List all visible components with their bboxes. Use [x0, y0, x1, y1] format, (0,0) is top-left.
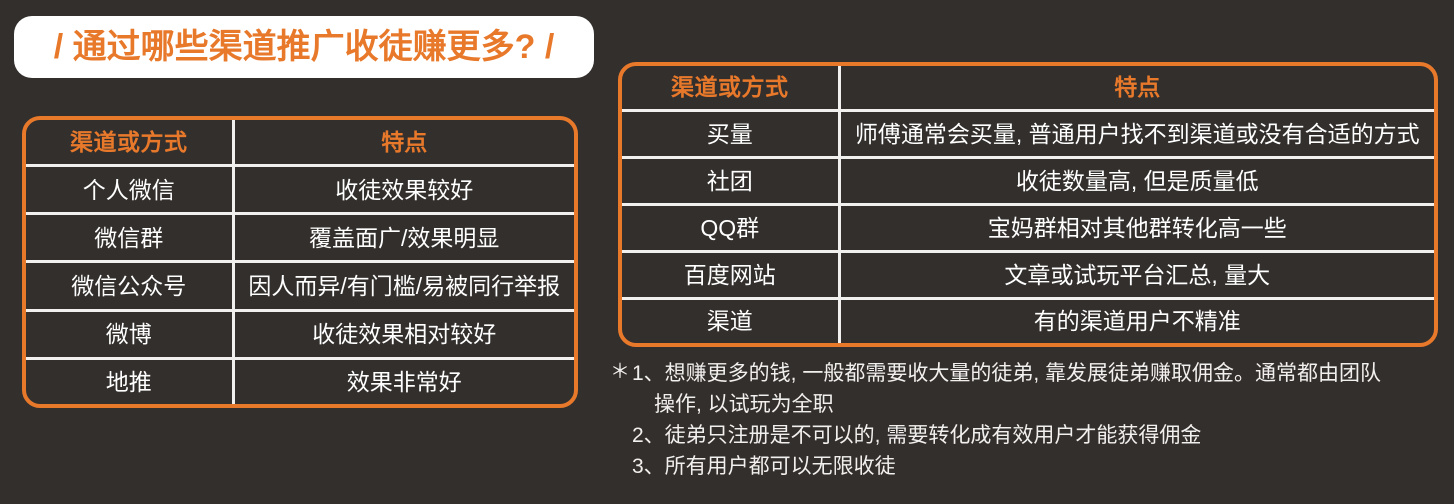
table-row: 微信群 覆盖面广/效果明显	[26, 214, 574, 262]
footnote-item: ＊ 1、想赚更多的钱, 一般都需要收大量的徒弟, 靠发展徒弟赚取佣金。通常都由团…	[610, 358, 1450, 420]
footnote-line: 1、想赚更多的钱, 一般都需要收大量的徒弟, 靠发展徒弟赚取佣金。通常都由团队	[632, 362, 1381, 385]
asterisk-icon: ＊	[610, 358, 632, 388]
table-row: 社团 收徒数量高, 但是质量低	[622, 158, 1434, 205]
table-row: 渠道 有的渠道用户不精准	[622, 298, 1434, 343]
cell-channel: 社团	[622, 158, 839, 205]
cell-feature: 收徒数量高, 但是质量低	[839, 158, 1434, 205]
footnote-text: 2、徒弟只注册是不可以的, 需要转化成有效用户才能获得佣金	[632, 420, 1450, 451]
cell-feature: 因人而异/有门槛/易被同行举报	[233, 262, 574, 310]
table-row: 微博 收徒效果相对较好	[26, 310, 574, 358]
column-header-feature: 特点	[839, 66, 1434, 111]
footnote-item: 3、所有用户都可以无限收徒	[610, 451, 1450, 482]
footnote-item: 2、徒弟只注册是不可以的, 需要转化成有效用户才能获得佣金	[610, 420, 1450, 451]
cell-feature: 收徒效果较好	[233, 166, 574, 214]
left-table-grid: 渠道或方式 特点 个人微信 收徒效果较好 微信群 覆盖面广/效果明显 微信公众号…	[26, 120, 574, 404]
cell-channel: 买量	[622, 111, 839, 158]
cell-feature: 宝妈群相对其他群转化高一些	[839, 204, 1434, 251]
infographic-canvas: / 通过哪些渠道推广收徒赚更多? / 渠道或方式 特点 个人微信 收徒效果较好 …	[0, 0, 1454, 504]
table-row: 买量 师傅通常会买量, 普通用户找不到渠道或没有合适的方式	[622, 111, 1434, 158]
column-header-channel: 渠道或方式	[26, 120, 233, 166]
footnote-line-continued: 操作, 以试玩为全职	[632, 389, 1450, 420]
cell-channel: 微信公众号	[26, 262, 233, 310]
cell-feature: 效果非常好	[233, 358, 574, 404]
cell-feature: 文章或试玩平台汇总, 量大	[839, 251, 1434, 298]
cell-feature: 师傅通常会买量, 普通用户找不到渠道或没有合适的方式	[839, 111, 1434, 158]
cell-channel: QQ群	[622, 204, 839, 251]
table-row: 百度网站 文章或试玩平台汇总, 量大	[622, 251, 1434, 298]
footnote-line: 2、徒弟只注册是不可以的, 需要转化成有效用户才能获得佣金	[632, 424, 1201, 447]
table-header-row: 渠道或方式 特点	[622, 66, 1434, 111]
table-row: QQ群 宝妈群相对其他群转化高一些	[622, 204, 1434, 251]
cell-feature: 有的渠道用户不精准	[839, 298, 1434, 343]
cell-channel: 微信群	[26, 214, 233, 262]
cell-channel: 百度网站	[622, 251, 839, 298]
page-title: / 通过哪些渠道推广收徒赚更多? /	[54, 30, 555, 64]
cell-feature: 覆盖面广/效果明显	[233, 214, 574, 262]
cell-channel: 渠道	[622, 298, 839, 343]
table-row: 个人微信 收徒效果较好	[26, 166, 574, 214]
page-title-pill: / 通过哪些渠道推广收徒赚更多? /	[14, 16, 594, 78]
footnote-text: 3、所有用户都可以无限收徒	[632, 451, 1450, 482]
cell-channel: 个人微信	[26, 166, 233, 214]
footnote-line: 3、所有用户都可以无限收徒	[632, 455, 896, 478]
footnote-text: 1、想赚更多的钱, 一般都需要收大量的徒弟, 靠发展徒弟赚取佣金。通常都由团队 …	[632, 358, 1450, 420]
cell-channel: 微博	[26, 310, 233, 358]
cell-channel: 地推	[26, 358, 233, 404]
table-row: 地推 效果非常好	[26, 358, 574, 404]
footnotes: ＊ 1、想赚更多的钱, 一般都需要收大量的徒弟, 靠发展徒弟赚取佣金。通常都由团…	[610, 358, 1450, 482]
column-header-feature: 特点	[233, 120, 574, 166]
right-channel-table: 渠道或方式 特点 买量 师傅通常会买量, 普通用户找不到渠道或没有合适的方式 社…	[618, 62, 1438, 347]
column-header-channel: 渠道或方式	[622, 66, 839, 111]
table-row: 微信公众号 因人而异/有门槛/易被同行举报	[26, 262, 574, 310]
cell-feature: 收徒效果相对较好	[233, 310, 574, 358]
left-channel-table: 渠道或方式 特点 个人微信 收徒效果较好 微信群 覆盖面广/效果明显 微信公众号…	[22, 116, 578, 408]
right-table-grid: 渠道或方式 特点 买量 师傅通常会买量, 普通用户找不到渠道或没有合适的方式 社…	[622, 66, 1434, 343]
table-header-row: 渠道或方式 特点	[26, 120, 574, 166]
